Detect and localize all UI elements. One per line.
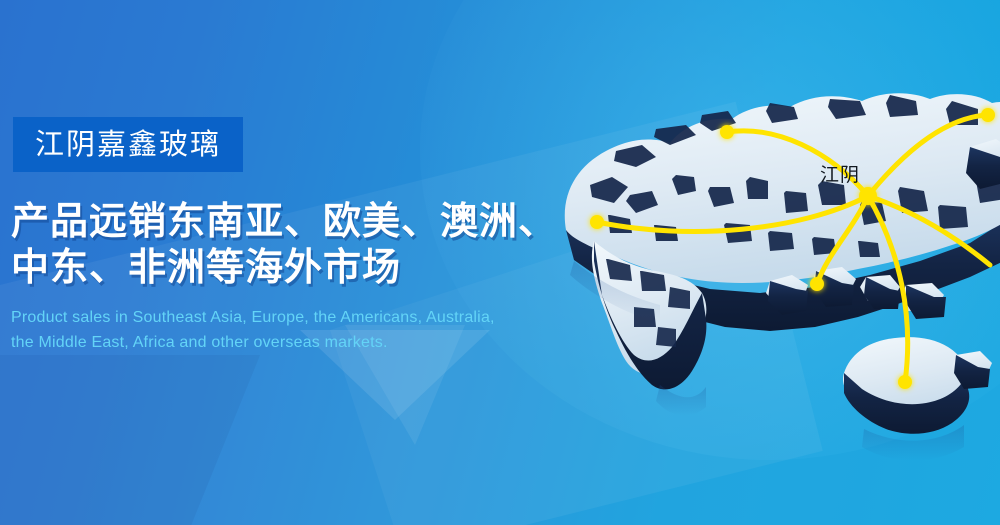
eurasia-top-surface xyxy=(565,93,1000,283)
americas-africa-node xyxy=(590,215,604,229)
background-facet-dark xyxy=(0,355,260,525)
southeast-asia-node xyxy=(810,277,824,291)
brand-badge: 江阴嘉鑫玻璃 xyxy=(13,117,243,172)
subtitle-line-1: Product sales in Southeast Asia, Europe,… xyxy=(11,306,581,331)
subtitle-line-2: the Middle East, Africa and other overse… xyxy=(11,331,581,356)
north-pacific-node xyxy=(981,108,995,122)
subtitle: Product sales in Southeast Asia, Europe,… xyxy=(11,306,581,356)
landmass-australia xyxy=(843,337,992,434)
page-title: 产品远销东南亚、欧美、澳洲、 中东、非洲等海外市场 xyxy=(11,198,571,291)
map-hub-label: 江阴 xyxy=(820,166,860,185)
hub-node-jiangyin xyxy=(859,187,877,205)
brand-badge-label: 江阴嘉鑫玻璃 xyxy=(35,130,221,159)
headline-line-1: 产品远销东南亚、欧美、澳洲、 xyxy=(11,198,571,244)
promo-banner: 江阴嘉鑫玻璃 产品远销东南亚、欧美、澳洲、 中东、非洲等海外市场 Product… xyxy=(0,0,1000,525)
europe-russia-node xyxy=(720,125,734,139)
australia-node xyxy=(898,375,912,389)
headline-line-2: 中东、非洲等海外市场 xyxy=(11,244,571,290)
